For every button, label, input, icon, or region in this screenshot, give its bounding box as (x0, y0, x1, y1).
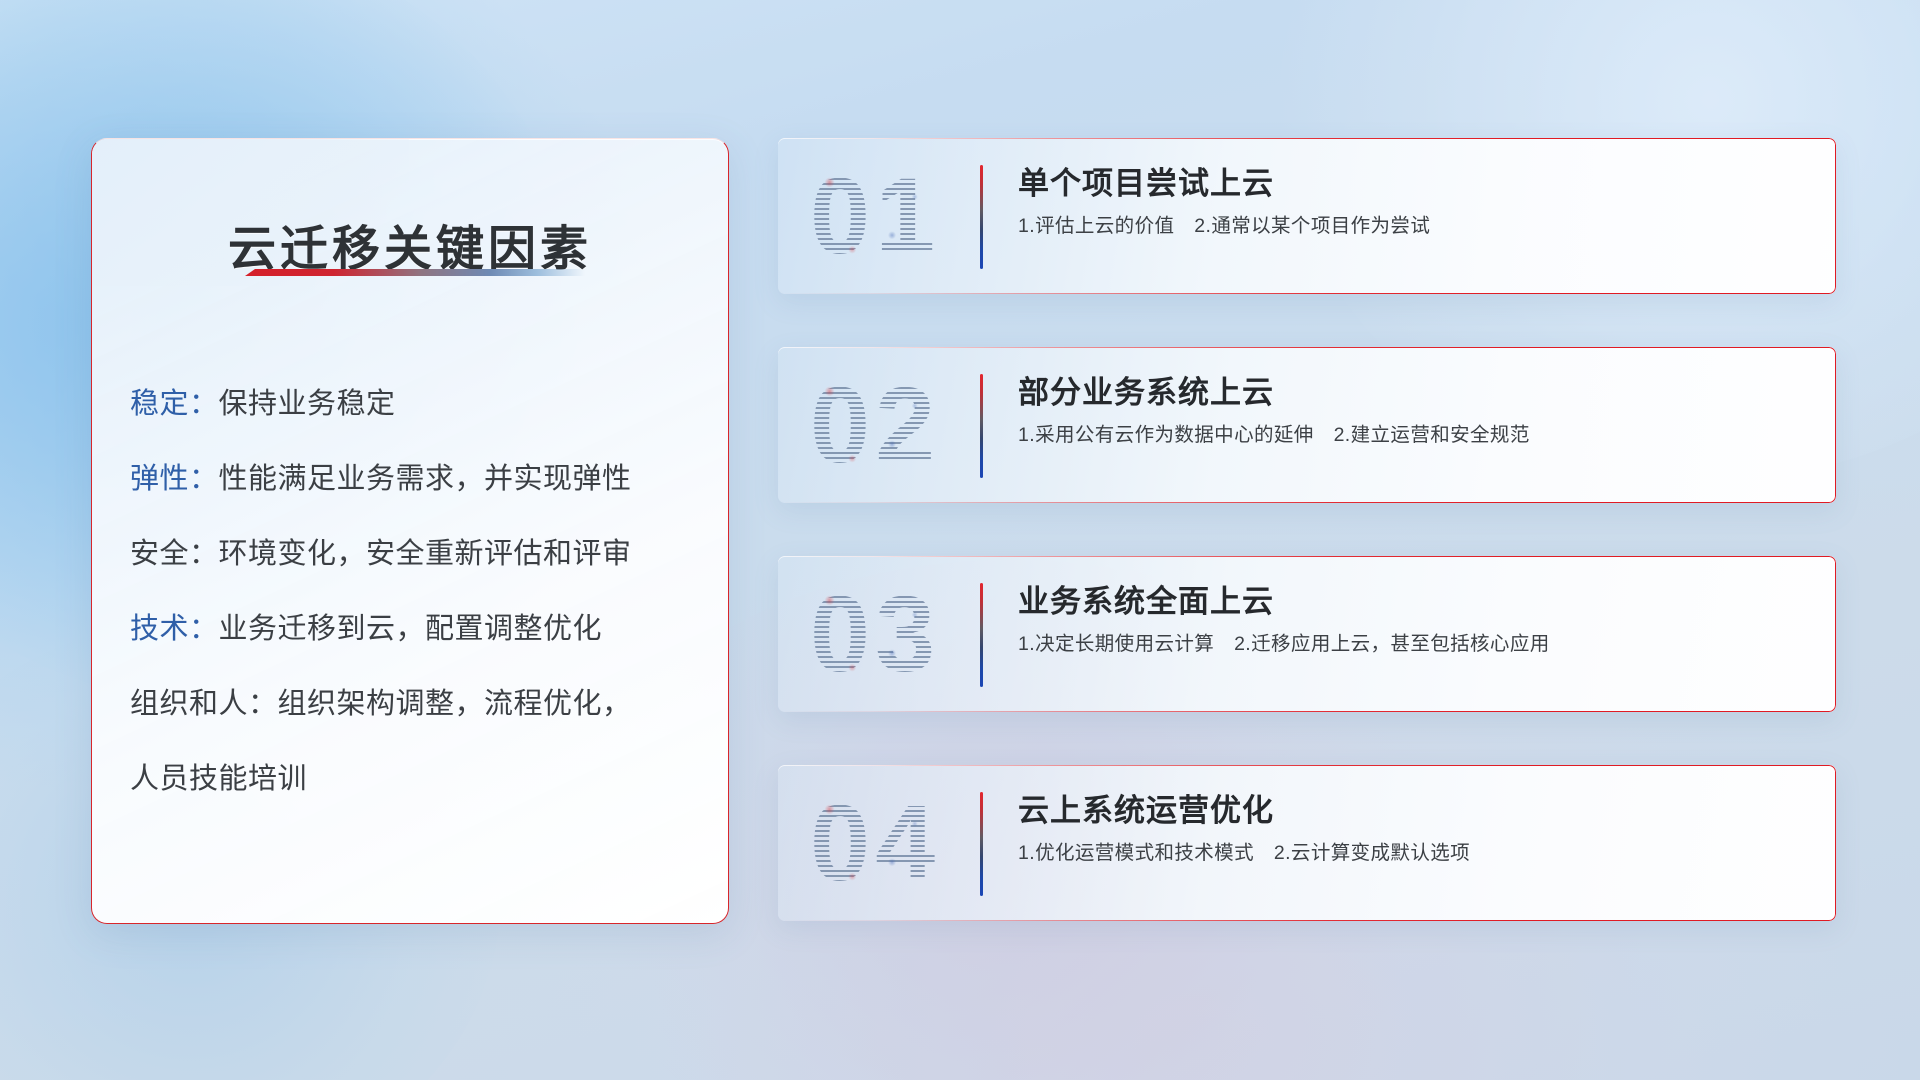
factor-label: 安全： (130, 538, 219, 570)
stage-number: 02 (810, 371, 940, 479)
stage-card-list: 01 单个项目尝试上云 1.评估上云的价值 2.通常以某个项目作为尝试 02 部… (778, 138, 1836, 921)
list-item: 组织和人：组织架构调整，流程优化， (130, 667, 688, 742)
factor-label: 组织和人： (130, 688, 278, 720)
stage-number: 03 (810, 580, 940, 688)
card-title: 部分业务系统上云 (1018, 374, 1810, 412)
card-subtitle: 1.评估上云的价值 2.通常以某个项目作为尝试 (1018, 214, 1810, 239)
card-divider (980, 165, 983, 269)
card-divider (980, 583, 983, 687)
slide-canvas: 云迁移关键因素 稳定：保持业务稳定 弹性：性能满足业务需求，并实现弹性 安全：环… (0, 0, 1920, 1080)
factor-text: 环境变化，安全重新评估和评审 (219, 538, 632, 570)
stage-card[interactable]: 02 部分业务系统上云 1.采用公有云作为数据中心的延伸 2.建立运营和安全规范 (778, 347, 1836, 503)
stage-number: 01 (810, 162, 940, 270)
factor-text: 业务迁移到云，配置调整优化 (219, 613, 603, 645)
stage-card[interactable]: 03 业务系统全面上云 1.决定长期使用云计算 2.迁移应用上云，甚至包括核心应… (778, 556, 1836, 712)
list-item: 弹性：性能满足业务需求，并实现弹性 (130, 442, 688, 517)
list-item: 安全：环境变化，安全重新评估和评审 (130, 517, 688, 592)
stage-card[interactable]: 04 云上系统运营优化 1.优化运营模式和技术模式 2.云计算变成默认选项 (778, 765, 1836, 921)
stage-card[interactable]: 01 单个项目尝试上云 1.评估上云的价值 2.通常以某个项目作为尝试 (778, 138, 1836, 294)
card-body: 云上系统运营优化 1.优化运营模式和技术模式 2.云计算变成默认选项 (1018, 792, 1810, 866)
card-divider (980, 374, 983, 478)
card-title: 单个项目尝试上云 (1018, 165, 1810, 203)
card-title: 云上系统运营优化 (1018, 792, 1810, 830)
list-item: 人员技能培训 (130, 742, 688, 817)
factor-label: 稳定： (130, 388, 219, 420)
factor-text: 人员技能培训 (130, 763, 307, 795)
list-item: 稳定：保持业务稳定 (130, 367, 688, 442)
card-body: 部分业务系统上云 1.采用公有云作为数据中心的延伸 2.建立运营和安全规范 (1018, 374, 1810, 448)
stage-number: 04 (810, 789, 940, 897)
factor-text: 组织架构调整，流程优化， (278, 688, 632, 720)
factor-text: 性能满足业务需求，并实现弹性 (219, 463, 632, 495)
card-body: 业务系统全面上云 1.决定长期使用云计算 2.迁移应用上云，甚至包括核心应用 (1018, 583, 1810, 657)
card-title: 业务系统全面上云 (1018, 583, 1810, 621)
card-divider (980, 792, 983, 896)
title-underline-rule (245, 269, 585, 276)
factor-list: 稳定：保持业务稳定 弹性：性能满足业务需求，并实现弹性 安全：环境变化，安全重新… (92, 367, 728, 817)
card-subtitle: 1.优化运营模式和技术模式 2.云计算变成默认选项 (1018, 841, 1810, 866)
page-title: 云迁移关键因素 (92, 209, 728, 279)
card-body: 单个项目尝试上云 1.评估上云的价值 2.通常以某个项目作为尝试 (1018, 165, 1810, 239)
card-subtitle: 1.决定长期使用云计算 2.迁移应用上云，甚至包括核心应用 (1018, 632, 1810, 657)
factor-label: 技术： (130, 613, 219, 645)
factor-text: 保持业务稳定 (219, 388, 396, 420)
card-subtitle: 1.采用公有云作为数据中心的延伸 2.建立运营和安全规范 (1018, 423, 1810, 448)
list-item: 技术：业务迁移到云，配置调整优化 (130, 592, 688, 667)
factor-label: 弹性： (130, 463, 219, 495)
key-factors-panel: 云迁移关键因素 稳定：保持业务稳定 弹性：性能满足业务需求，并实现弹性 安全：环… (91, 138, 729, 924)
